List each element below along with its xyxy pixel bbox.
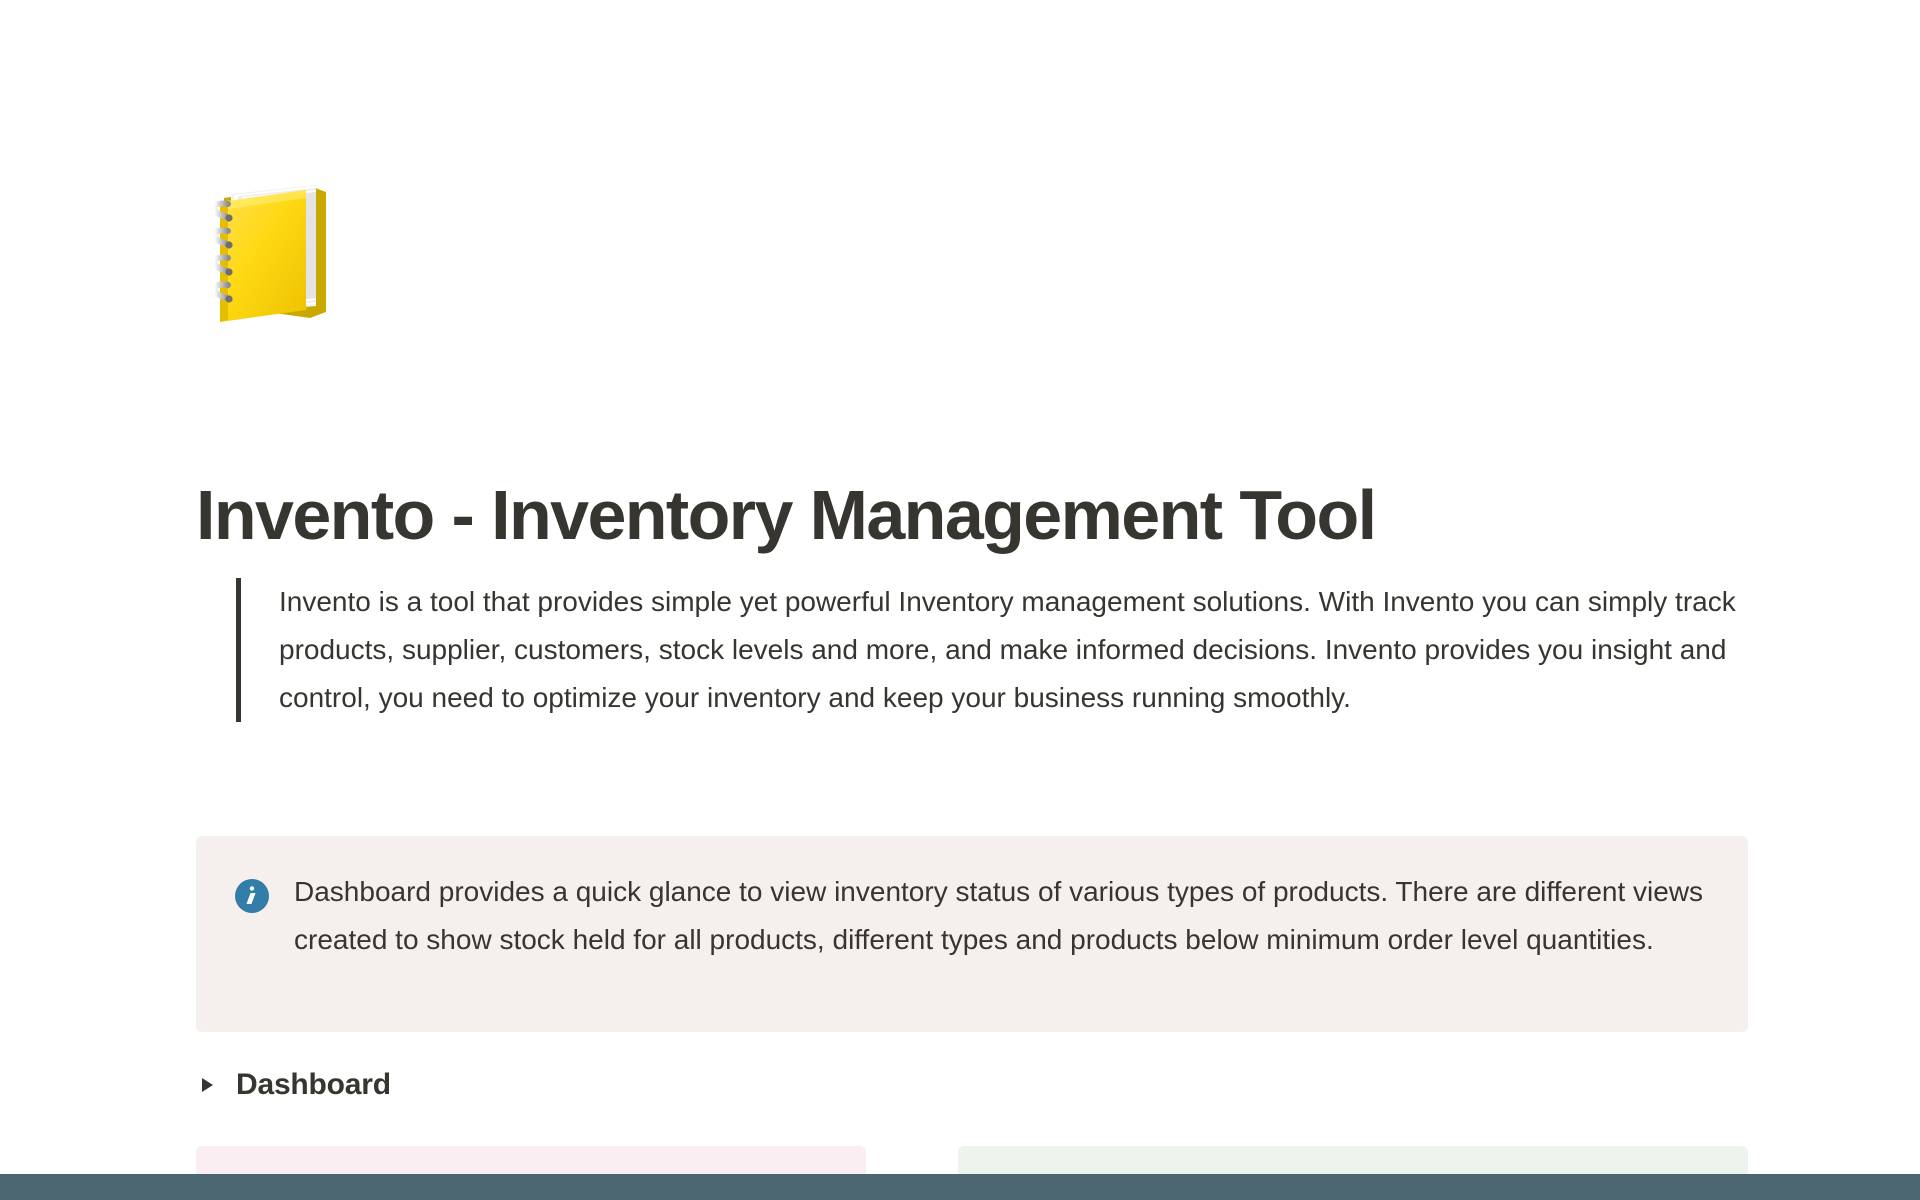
callout-text[interactable]: Dashboard provides a quick glance to vie… bbox=[294, 868, 1714, 964]
description-quote: Invento is a tool that provides simple y… bbox=[236, 578, 1788, 722]
info-callout: Dashboard provides a quick glance to vie… bbox=[196, 836, 1748, 1032]
page-title[interactable]: Invento - Inventory Management Tool bbox=[196, 479, 1756, 553]
toggle-dashboard-label[interactable]: Dashboard bbox=[236, 1068, 391, 1102]
bottom-bar bbox=[0, 1174, 1920, 1200]
spiral-notebook-icon[interactable] bbox=[198, 178, 348, 328]
info-icon[interactable] bbox=[234, 878, 270, 914]
triangle-right-icon[interactable] bbox=[196, 1074, 218, 1096]
notion-page: Invento - Inventory Management Tool Inve… bbox=[0, 0, 1920, 1200]
toggle-dashboard[interactable]: Dashboard bbox=[196, 1068, 391, 1102]
description-text[interactable]: Invento is a tool that provides simple y… bbox=[279, 578, 1788, 722]
